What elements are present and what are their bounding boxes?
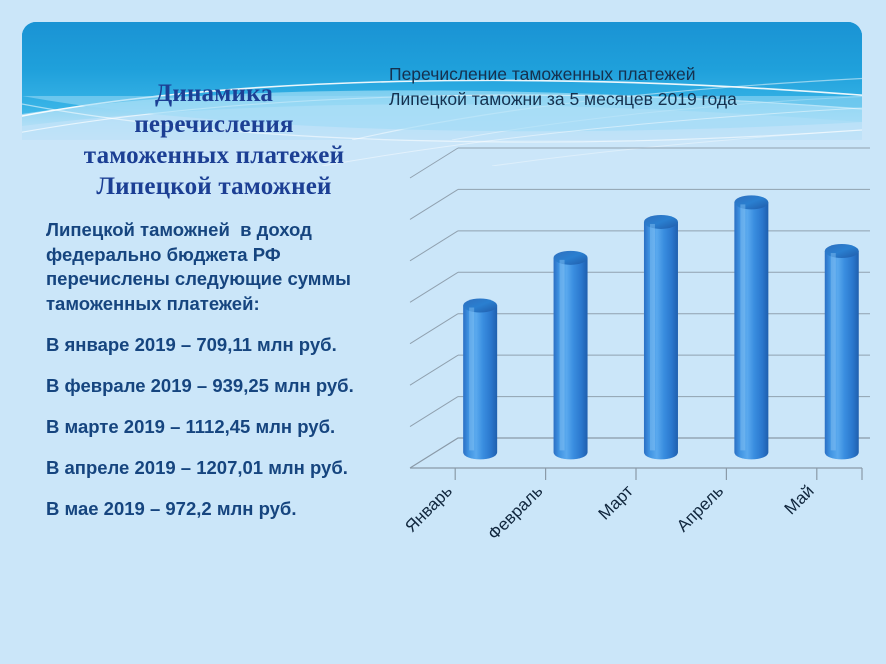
gridline-depth-800	[410, 272, 458, 302]
bar-top-cap	[734, 195, 768, 209]
fact-line-january: В январе 2019 – 709,11 млн руб.	[46, 333, 394, 357]
bar-body	[825, 251, 859, 459]
intro-line-3: перечислены следующие суммы	[46, 267, 394, 292]
body-text-block: Липецкой таможней в доход федерально бюд…	[34, 218, 394, 521]
left-text-panel: Динамика перечисления таможенных платеже…	[34, 78, 394, 521]
fact-line-may: В мае 2019 – 972,2 млн руб.	[46, 497, 394, 521]
tick-label-январь: Январь	[401, 481, 456, 536]
chart-bars	[463, 195, 859, 459]
bar-top-cap	[825, 244, 859, 258]
fact-line-february: В феврале 2019 – 939,25 млн руб.	[46, 374, 394, 398]
intro-line-1: Липецкой таможней в доход	[46, 218, 394, 243]
bar-top-cap	[644, 215, 678, 229]
tick-label-март: Март	[595, 481, 637, 523]
gridline-depth-400	[410, 355, 458, 385]
fact-line-march: В марте 2019 – 1112,45 млн руб.	[46, 415, 394, 439]
gridline-depth-1000	[410, 231, 458, 261]
bar-highlight	[650, 224, 655, 450]
chart-title-line-1: Перечисление таможенных платежей	[389, 62, 859, 87]
intro-paragraph: Липецкой таможней в доход федерально бюд…	[46, 218, 394, 316]
tick-label-февраль: Февраль	[484, 481, 546, 543]
page-title-line-3: таможенных платежей	[38, 140, 390, 171]
bar-top-cap	[554, 251, 588, 265]
intro-line-4: таможенных платежей:	[46, 292, 394, 317]
bar-body	[644, 222, 678, 459]
bar-май	[825, 244, 859, 459]
bar-апрель	[734, 195, 768, 459]
bar-highlight	[740, 204, 745, 450]
page-title-line-4: Липецкой таможней	[38, 171, 390, 202]
bar-chart: ЯнварьФевральМартАпрельМай	[370, 130, 870, 600]
slide-canvas: Динамика перечисления таможенных платеже…	[0, 0, 886, 664]
tick-label-апрель: Апрель	[673, 481, 727, 535]
bar-highlight	[469, 308, 474, 451]
bar-январь	[463, 299, 497, 460]
gridline-depth-1400	[410, 148, 458, 178]
gridline-depth-600	[410, 314, 458, 344]
page-title-line-2: перечисления	[38, 109, 390, 140]
bar-body	[554, 258, 588, 460]
gridline-depth-1200	[410, 189, 458, 219]
bar-top-cap	[463, 299, 497, 313]
page-title: Динамика перечисления таможенных платеже…	[34, 78, 394, 202]
gridline-depth-200	[410, 397, 458, 427]
bar-body	[734, 202, 768, 459]
bar-body	[463, 306, 497, 460]
chart-tick-labels: ЯнварьФевральМартАпрельМай	[401, 481, 817, 543]
bar-февраль	[554, 251, 588, 460]
page-title-line-1: Динамика	[38, 78, 390, 109]
bar-highlight	[831, 253, 836, 450]
chart-title-line-2: Липецкой таможни за 5 месяцев 2019 года	[389, 87, 859, 112]
tick-label-май: Май	[781, 481, 818, 518]
intro-line-2: федерально бюджета РФ	[46, 243, 394, 268]
bar-highlight	[560, 260, 565, 451]
fact-line-april: В апреле 2019 – 1207,01 млн руб.	[46, 456, 394, 480]
chart-canvas: ЯнварьФевральМартАпрельМай	[370, 130, 870, 600]
chart-title: Перечисление таможенных платежей Липецко…	[389, 62, 859, 112]
bar-март	[644, 215, 678, 459]
